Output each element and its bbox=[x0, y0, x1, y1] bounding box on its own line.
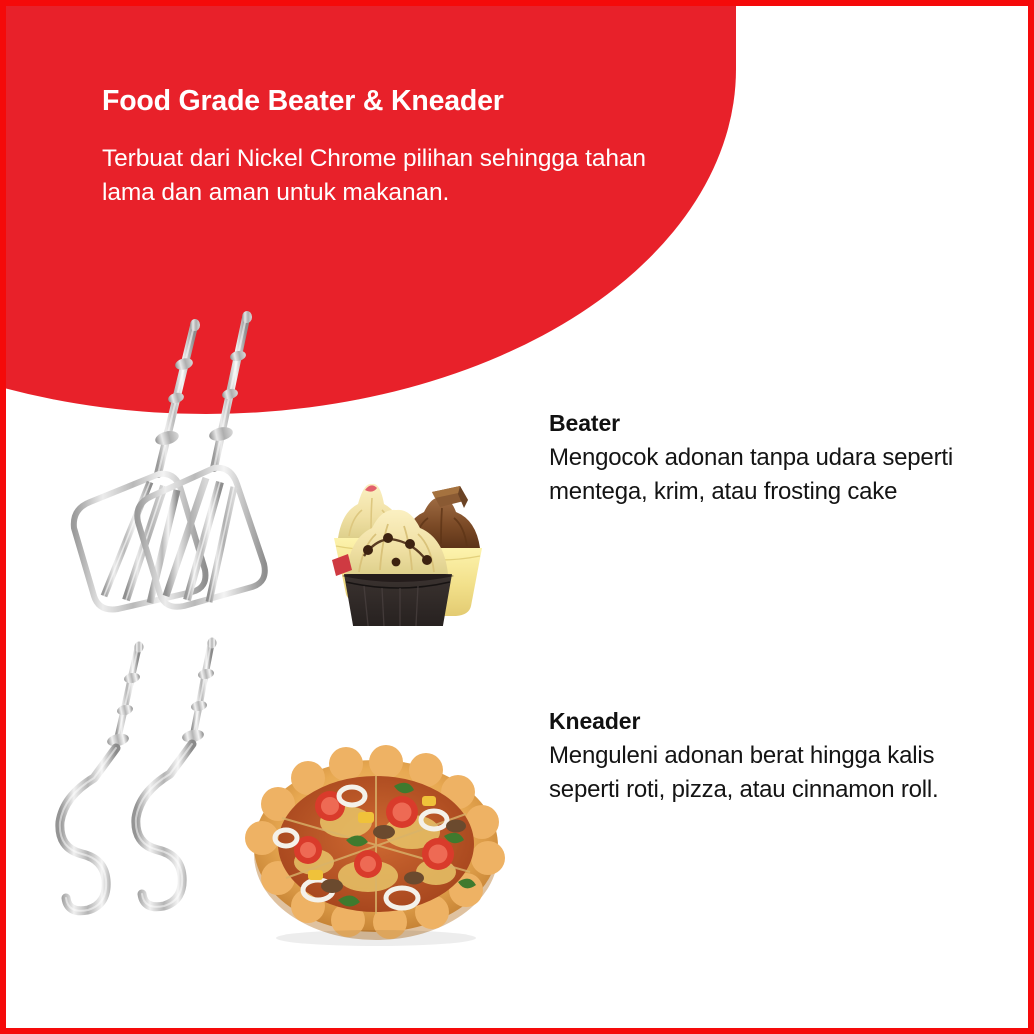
dough-hook-icon bbox=[60, 642, 144, 911]
dough-hook-icon bbox=[136, 638, 217, 907]
pizza-icon bbox=[245, 745, 505, 946]
beater-description: Beater Mengocok adonan tanpa udara seper… bbox=[549, 410, 969, 510]
kneader-heading: Kneader bbox=[549, 708, 969, 735]
cupcakes-icon bbox=[332, 484, 482, 626]
infographic-canvas: Food Grade Beater & Kneader Terbuat dari… bbox=[0, 0, 1034, 1034]
beater-body-text: Mengocok adonan tanpa udara seperti ment… bbox=[549, 441, 969, 510]
kneader-description: Kneader Menguleni adonan berat hingga ka… bbox=[549, 708, 969, 808]
beater-heading: Beater bbox=[549, 410, 969, 437]
kneader-body-text: Menguleni adonan berat hingga kalis sepe… bbox=[549, 739, 969, 808]
hero-subtitle: Terbuat dari Nickel Chrome pilihan sehin… bbox=[102, 142, 662, 212]
kneader-artwork bbox=[46, 626, 536, 946]
page-title: Food Grade Beater & Kneader bbox=[102, 84, 662, 120]
beater-artwork bbox=[46, 306, 536, 626]
section-beater: Beater Mengocok adonan tanpa udara seper… bbox=[46, 306, 996, 626]
beater-whisk-icon bbox=[74, 319, 206, 609]
section-kneader: Kneader Menguleni adonan berat hingga ka… bbox=[46, 626, 996, 946]
hero-text-block: Food Grade Beater & Kneader Terbuat dari… bbox=[102, 84, 662, 211]
